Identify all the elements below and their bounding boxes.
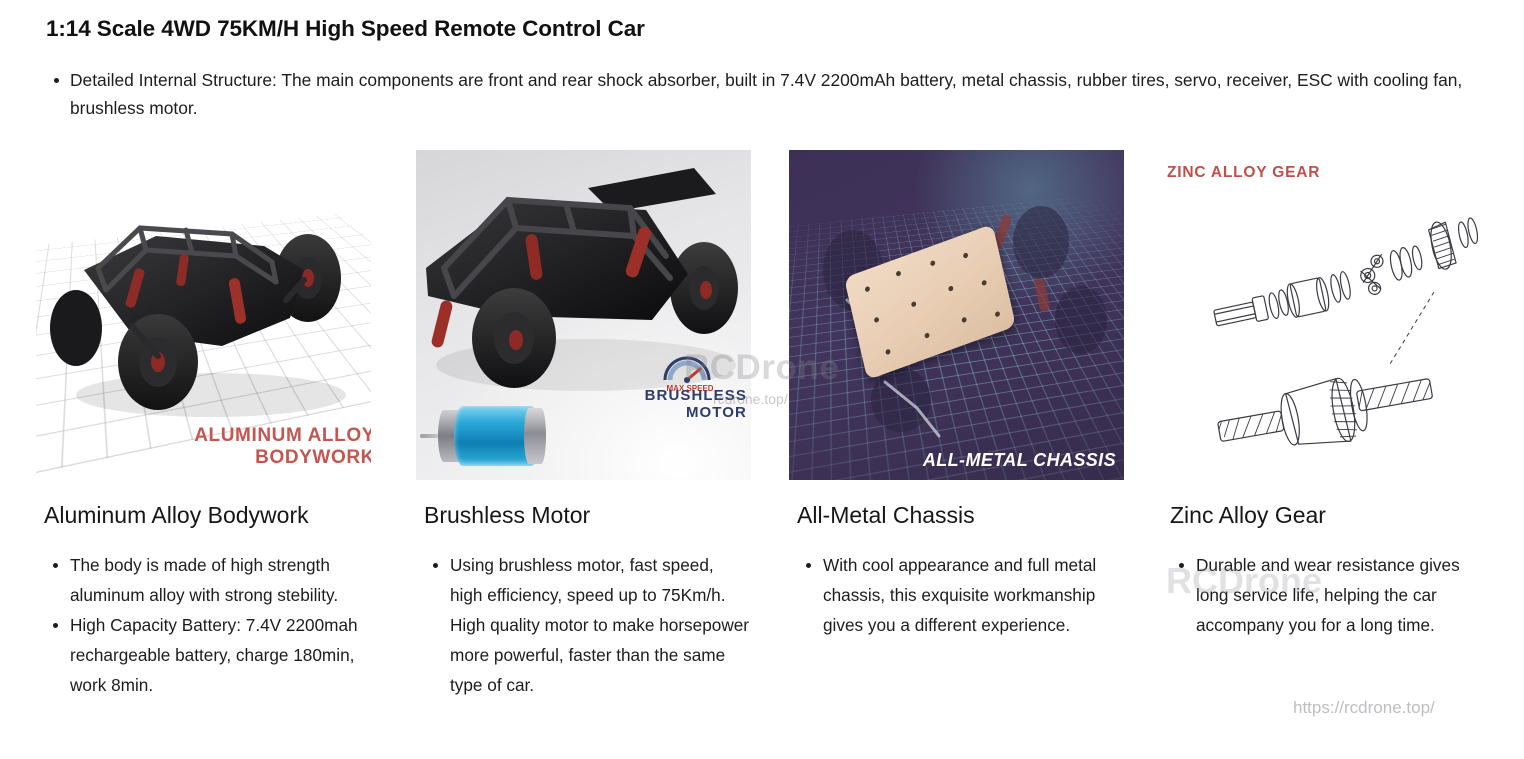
feature-bullet: Durable and wear resistance gives long s…: [1170, 550, 1496, 640]
feature-heading-aluminum-alloy-bodywork: Aluminum Alloy Bodywork: [44, 502, 309, 529]
page-title: 1:14 Scale 4WD 75KM/H High Speed Remote …: [46, 16, 645, 42]
feature-bullets-zinc-alloy-gear: Durable and wear resistance gives long s…: [1170, 550, 1496, 640]
image-caption-all-metal-chassis: ALL-METAL CHASSIS: [923, 450, 1116, 470]
feature-heading-all-metal-chassis: All-Metal Chassis: [797, 502, 975, 529]
intro-bullet: Detailed Internal Structure: The main co…: [46, 66, 1498, 122]
gear-assembly-line-drawing: [1162, 150, 1497, 480]
feature-bullet: High Capacity Battery: 7.4V 2200mah rech…: [44, 610, 370, 700]
feature-bullets-all-metal-chassis: With cool appearance and full metal chas…: [797, 550, 1123, 640]
feature-image-zinc-alloy-gear[interactable]: ZINC ALLOY GEAR: [1162, 150, 1497, 480]
intro-bullet-list: Detailed Internal Structure: The main co…: [46, 66, 1498, 122]
feature-heading-brushless-motor: Brushless Motor: [424, 502, 590, 529]
caption-line-1: BRUSHLESS: [645, 387, 747, 404]
feature-image-all-metal-chassis[interactable]: ALL-METAL CHASSIS: [789, 150, 1124, 480]
caption-line-2: MOTOR: [686, 404, 747, 421]
feature-bullets-aluminum-alloy-bodywork: The body is made of high strength alumin…: [44, 550, 370, 700]
product-feature-page: 1:14 Scale 4WD 75KM/H High Speed Remote …: [0, 0, 1524, 759]
motor-end-bell-right: [524, 408, 546, 464]
feature-column-zinc-alloy-gear: ZINC ALLOY GEAR: [1162, 150, 1502, 480]
caption-line-2: BODYWORK: [255, 447, 371, 468]
image-caption-brushless-motor: BRUSHLESS MOTOR: [645, 388, 747, 422]
feature-bullet: The body is made of high strength alumin…: [44, 550, 370, 610]
feature-bullets-brushless-motor: Using brushless motor, fast speed, high …: [424, 550, 750, 700]
feature-column-aluminum-alloy-bodywork: ALUMINUM ALLOY BODYWORK Aluminum Alloy B…: [36, 150, 376, 480]
feature-image-aluminum-alloy-bodywork[interactable]: ALUMINUM ALLOY BODYWORK: [36, 150, 371, 480]
feature-column-all-metal-chassis: ALL-METAL CHASSIS All-Metal Chassis With…: [789, 150, 1129, 480]
image-caption-aluminum-alloy-bodywork: ALUMINUM ALLOY BODYWORK: [194, 425, 371, 468]
feature-heading-zinc-alloy-gear: Zinc Alloy Gear: [1170, 502, 1326, 529]
feature-columns: ALUMINUM ALLOY BODYWORK Aluminum Alloy B…: [0, 150, 1524, 750]
feature-bullet: Using brushless motor, fast speed, high …: [424, 550, 750, 700]
brushless-motor-illustration: [430, 406, 558, 466]
caption-line-1: ALUMINUM ALLOY: [194, 425, 371, 446]
feature-image-brushless-motor[interactable]: MAX SPEED BRUSHLESS MOTOR: [416, 150, 751, 480]
feature-column-brushless-motor: MAX SPEED BRUSHLESS MOTOR Brushless Moto…: [416, 150, 756, 480]
feature-bullet: With cool appearance and full metal chas…: [797, 550, 1123, 640]
